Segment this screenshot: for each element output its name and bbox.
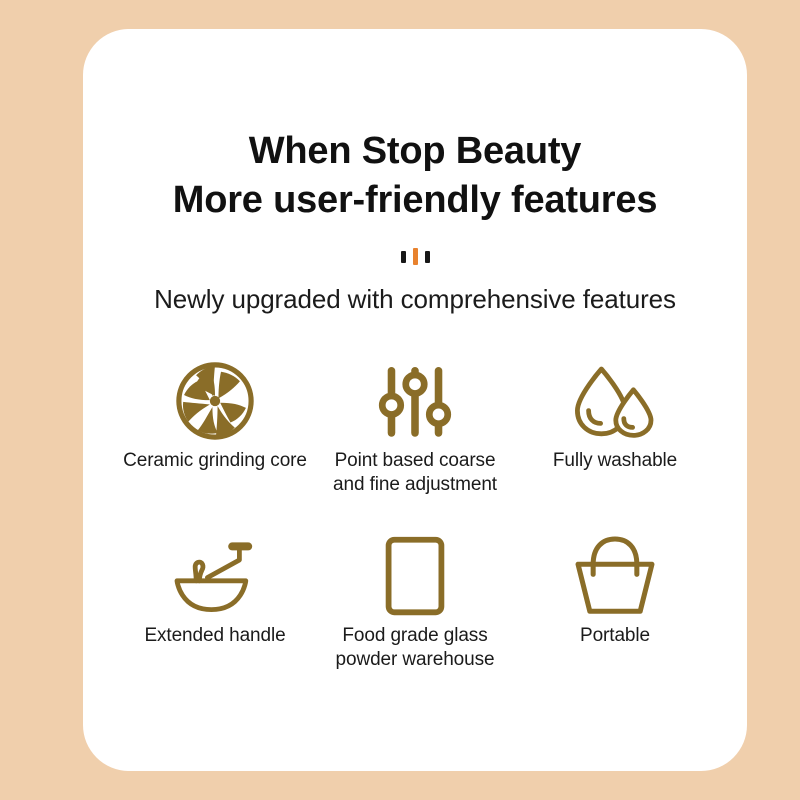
feature-item-coarse-fine-adjustment: Point based coarse and fine adjustment <box>315 355 515 530</box>
feature-label: Fully washable <box>553 449 677 473</box>
feature-label: Extended handle <box>144 624 285 648</box>
feature-label: Portable <box>580 624 650 648</box>
feature-item-ceramic-grinding-core: Ceramic grinding core <box>115 355 315 530</box>
feature-label: Food grade glass powder warehouse <box>336 624 495 673</box>
glass-jar-icon <box>382 530 448 622</box>
title-line-1: When Stop Beauty <box>173 127 658 176</box>
feature-item-glass-powder-warehouse: Food grade glass powder warehouse <box>315 530 515 705</box>
grinder-burr-icon <box>172 355 258 447</box>
divider-bar-right <box>425 251 430 263</box>
feature-grid: Ceramic grinding core <box>115 355 715 705</box>
feature-item-portable: Portable <box>515 530 715 705</box>
divider-bar-left <box>401 251 406 263</box>
feature-card: When Stop Beauty More user-friendly feat… <box>83 29 747 771</box>
divider-bar-center <box>413 248 418 265</box>
product-feature-infographic: When Stop Beauty More user-friendly feat… <box>0 0 800 800</box>
page-title: When Stop Beauty More user-friendly feat… <box>173 127 658 226</box>
feature-label: Ceramic grinding core <box>123 449 307 473</box>
divider <box>401 248 430 266</box>
page-subtitle: Newly upgraded with comprehensive featur… <box>154 284 676 315</box>
sliders-icon <box>372 355 458 447</box>
feature-item-extended-handle: Extended handle <box>115 530 315 705</box>
feature-item-fully-washable: Fully washable <box>515 355 715 530</box>
tote-bag-icon <box>570 530 660 622</box>
water-droplets-icon <box>571 355 659 447</box>
hand-crank-grinder-icon <box>168 530 262 622</box>
feature-label: Point based coarse and fine adjustment <box>333 449 497 498</box>
title-line-2: More user-friendly features <box>173 176 658 225</box>
